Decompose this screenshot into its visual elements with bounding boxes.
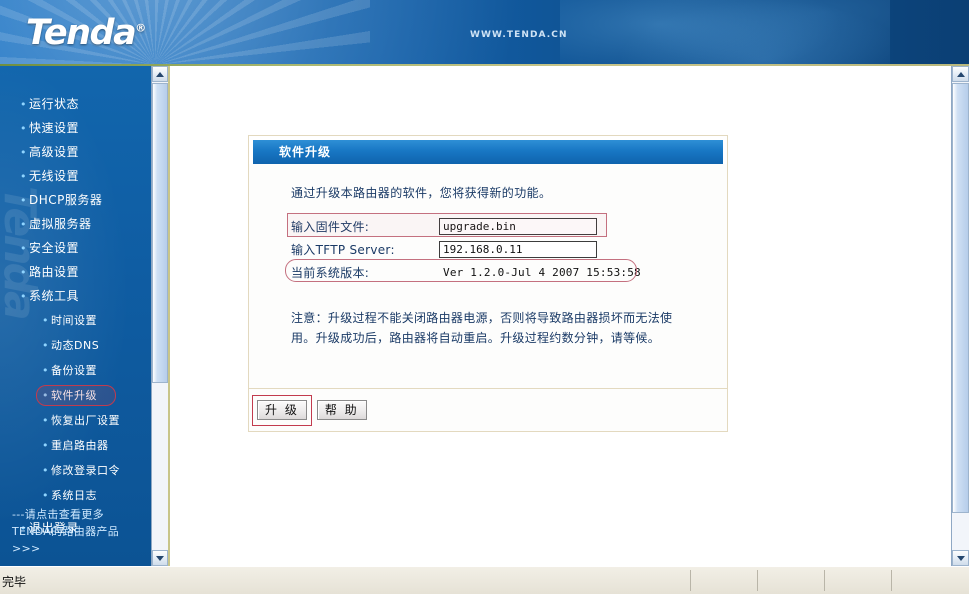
main-scroll-down-button[interactable] [952,550,969,566]
sidebar-item-time-setup[interactable]: •时间设置 [0,308,152,333]
chevron-up-icon [156,72,164,77]
sidebar-item-label: 无线设置 [29,169,79,183]
logo-text: Tenda [26,13,135,53]
upgrade-notice-text: 注意：升级过程不能关闭路由器电源，否则将导致路由器损坏而无法使用。升级成功后，路… [291,308,685,348]
sidebar-item-label: 虚拟服务器 [29,217,92,231]
status-bar-text: 完毕 [2,573,26,590]
bullet-icon: • [42,364,49,377]
firmware-file-label: 输入固件文件: [291,218,439,235]
bullet-icon: • [20,218,27,231]
sidebar-item-running-status[interactable]: •运行状态 [0,92,152,116]
sidebar-item-label: 运行状态 [29,97,79,111]
status-bar-separator [757,570,758,591]
banner-website-url: WWW.TENDA.CN [470,30,568,40]
bullet-icon: • [20,98,27,111]
panel-description: 通过升级本路由器的软件，您将获得新的功能。 [291,184,727,201]
status-bar-separator [824,570,825,591]
form-row-firmware-file: 输入固件文件: [291,215,727,238]
sidebar-item-label: 动态DNS [51,339,99,352]
sidebar-item-advanced-setup[interactable]: •高级设置 [0,140,152,164]
tftp-server-label: 输入TFTP Server: [291,241,439,258]
sidebar-item-backup-setup[interactable]: •备份设置 [0,358,152,383]
promo-line-3: >>> [12,540,152,557]
sidebar-item-system-tools[interactable]: •系统工具 [0,284,152,308]
sidebar-frame: Tenda •运行状态 •快速设置 •高级设置 •无线设置 •DHCP服务器 •… [0,66,168,566]
sidebar-item-factory-reset[interactable]: •恢复出厂设置 [0,408,152,433]
status-bar-separator [891,570,892,591]
sidebar-item-wireless-setup[interactable]: •无线设置 [0,164,152,188]
sidebar-item-system-log[interactable]: •系统日志 [0,483,152,508]
sidebar-promo-block[interactable]: ---请点击查看更多 TENDA的路由器产品 >>> [12,506,152,557]
chevron-up-icon [957,72,965,77]
sidebar-scroll-down-button[interactable] [152,550,168,566]
sidebar-scrollbar-thumb[interactable] [152,83,168,383]
sidebar-item-label: 软件升级 [51,389,97,402]
chevron-down-icon [156,556,164,561]
help-button[interactable]: 帮 助 [317,400,367,420]
sidebar-item-label: 系统工具 [29,289,79,303]
sidebar-item-label: DHCP服务器 [29,193,102,207]
main-content-scroll-area: 软件升级 通过升级本路由器的软件，您将获得新的功能。 输入固件文件: 输入TFT… [170,66,952,566]
main-scrollbar-thumb[interactable] [952,83,969,513]
bullet-icon: • [20,290,27,303]
sidebar-item-label: 重启路由器 [51,439,109,452]
chevron-down-icon [957,556,965,561]
sidebar-item-firmware-upgrade[interactable]: •软件升级 [0,383,152,408]
current-version-value: Ver 1.2.0-Jul 4 2007 15:53:58 [439,266,641,279]
page-banner: Tenda® WWW.TENDA.CN [0,0,969,66]
bullet-icon: • [42,439,49,452]
sidebar-item-quick-setup[interactable]: •快速设置 [0,116,152,140]
router-admin-page: Tenda® WWW.TENDA.CN Tenda •运行状态 •快速设置 •高… [0,0,969,594]
firmware-file-input[interactable] [439,218,597,235]
sidebar-item-label: 高级设置 [29,145,79,159]
sidebar-item-change-password[interactable]: •修改登录口令 [0,458,152,483]
panel-title: 软件升级 [253,140,723,164]
bullet-icon: • [20,242,27,255]
sidebar-item-security-setup[interactable]: •安全设置 [0,236,152,260]
bullet-icon: • [42,339,49,352]
form-row-tftp-server: 输入TFTP Server: [291,238,727,261]
current-version-label: 当前系统版本: [291,264,439,281]
panel-button-row: 升 级 帮 助 [249,389,727,431]
sidebar-item-dhcp-server[interactable]: •DHCP服务器 [0,188,152,212]
sidebar-scrollbar[interactable] [151,66,168,566]
upgrade-button[interactable]: 升 级 [257,400,307,420]
panel-body: 通过升级本路由器的软件，您将获得新的功能。 输入固件文件: 输入TFTP Ser… [249,164,727,431]
sidebar-item-ddns[interactable]: •动态DNS [0,333,152,358]
sidebar-item-virtual-server[interactable]: •虚拟服务器 [0,212,152,236]
sidebar-item-label: 路由设置 [29,265,79,279]
banner-globe-decoration [560,0,890,66]
sidebar-item-reboot-router[interactable]: •重启路由器 [0,433,152,458]
bullet-icon: • [20,170,27,183]
bullet-icon: • [42,314,49,327]
sidebar-nav: Tenda •运行状态 •快速设置 •高级设置 •无线设置 •DHCP服务器 •… [0,66,152,566]
sidebar-menu: •运行状态 •快速设置 •高级设置 •无线设置 •DHCP服务器 •虚拟服务器 … [0,92,152,540]
bullet-icon: • [20,266,27,279]
sidebar-item-label: 快速设置 [29,121,79,135]
logo-registered-mark: ® [135,21,146,34]
promo-line-1: ---请点击查看更多 [12,506,152,523]
sidebar-item-label: 系统日志 [51,489,97,502]
sidebar-item-label: 恢复出厂设置 [51,414,120,427]
main-content-frame: 软件升级 通过升级本路由器的软件，您将获得新的功能。 输入固件文件: 输入TFT… [168,66,969,566]
bullet-icon: • [42,464,49,477]
sidebar-item-label: 修改登录口令 [51,464,120,477]
bullet-icon: • [20,146,27,159]
sidebar-item-label: 备份设置 [51,364,97,377]
firmware-upgrade-panel: 软件升级 通过升级本路由器的软件，您将获得新的功能。 输入固件文件: 输入TFT… [248,135,728,432]
main-scrollbar[interactable] [951,66,969,566]
main-scroll-up-button[interactable] [952,66,969,82]
sidebar-item-label: 时间设置 [51,314,97,327]
tftp-server-input[interactable] [439,241,597,258]
promo-line-2: TENDA的路由器产品 [12,523,152,540]
tenda-logo: Tenda® [26,13,146,53]
bullet-icon: • [42,489,49,502]
bullet-icon: • [42,414,49,427]
status-bar-separator [690,570,691,591]
form-row-current-version: 当前系统版本: Ver 1.2.0-Jul 4 2007 15:53:58 [291,261,727,284]
bullet-icon: • [20,194,27,207]
browser-status-bar: 完毕 [0,566,969,594]
sidebar-item-label: 安全设置 [29,241,79,255]
bullet-icon: • [42,389,49,402]
sidebar-item-routing-setup[interactable]: •路由设置 [0,260,152,284]
bullet-icon: • [20,122,27,135]
sidebar-scroll-up-button[interactable] [152,66,168,82]
